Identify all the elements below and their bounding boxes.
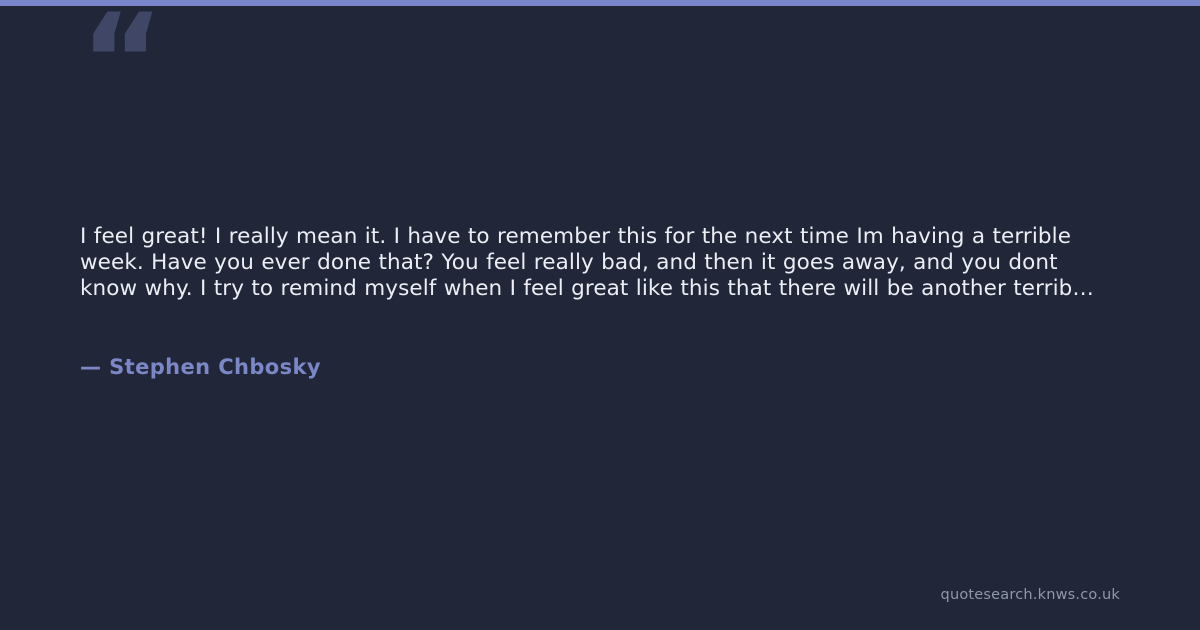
top-accent-bar bbox=[0, 0, 1200, 6]
quote-text: I feel great! I really mean it. I have t… bbox=[80, 224, 1120, 301]
quote-card: “ I feel great! I really mean it. I have… bbox=[0, 0, 1200, 630]
quotation-mark-icon: “ bbox=[80, 0, 162, 126]
quote-author: — Stephen Chbosky bbox=[80, 355, 321, 379]
source-url: quotesearch.knws.co.uk bbox=[941, 587, 1120, 603]
quote-body: I feel great! I really mean it. I have t… bbox=[80, 224, 1120, 301]
